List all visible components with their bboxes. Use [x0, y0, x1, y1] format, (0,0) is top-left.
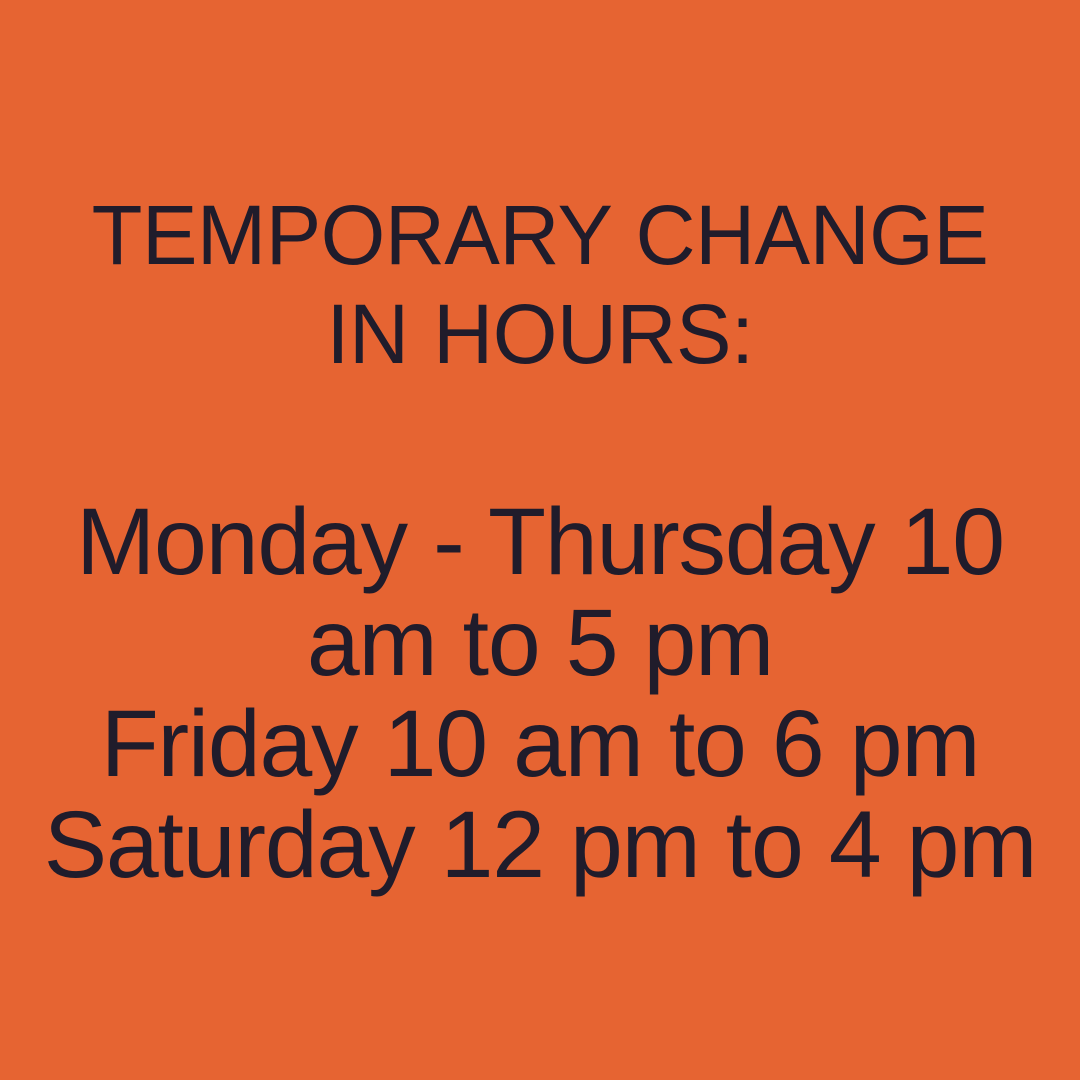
hours-list: Monday - Thursday 10 am to 5 pm Friday 1…	[0, 492, 1080, 896]
hours-line-saturday: Saturday 12 pm to 4 pm	[28, 795, 1052, 896]
hours-line-monday-thursday: Monday - Thursday 10 am to 5 pm	[28, 492, 1052, 694]
hours-line-friday: Friday 10 am to 6 pm	[28, 694, 1052, 795]
page-title: TEMPORARY CHANGE IN HOURS:	[59, 186, 1021, 384]
heading-block: TEMPORARY CHANGE IN HOURS:	[0, 186, 1080, 384]
hours-announcement-card: TEMPORARY CHANGE IN HOURS: Monday - Thur…	[0, 0, 1080, 1080]
